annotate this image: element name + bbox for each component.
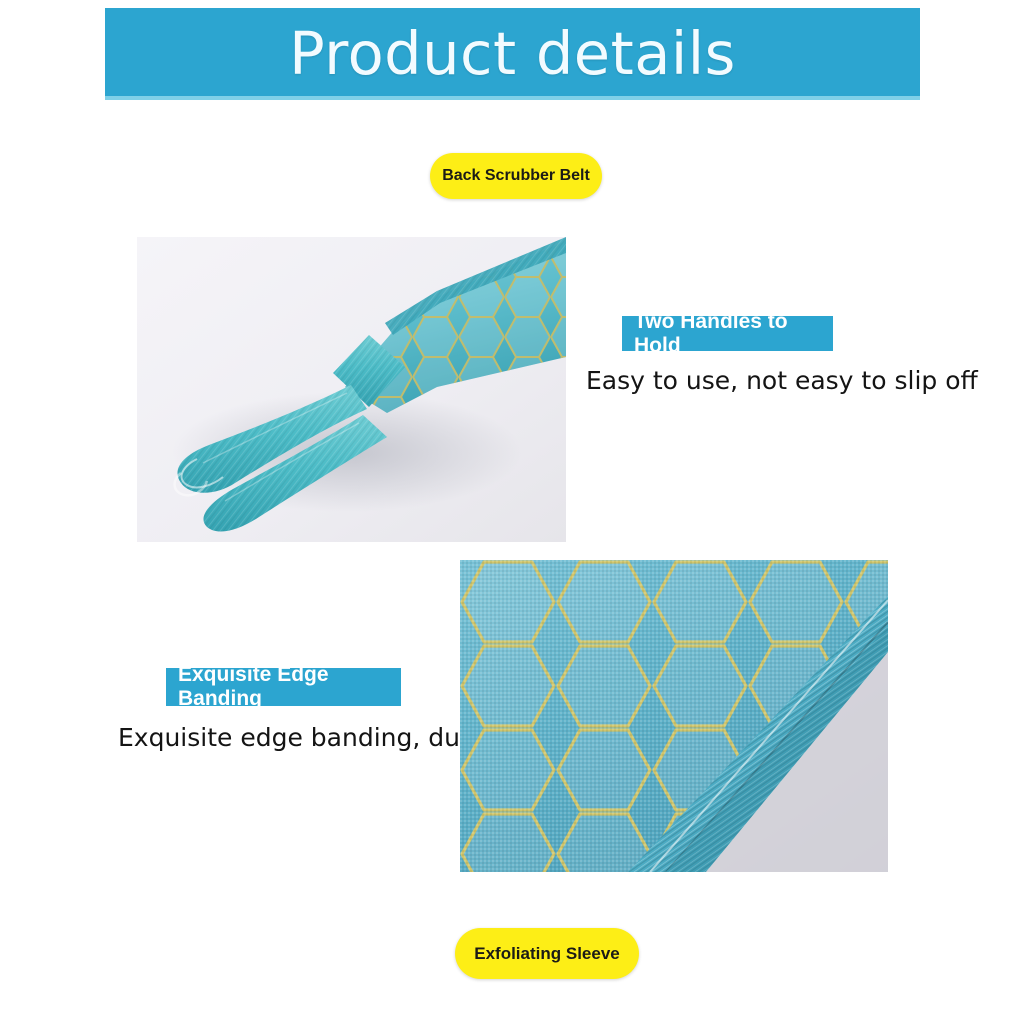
edge-banding-closeup-photo bbox=[460, 560, 888, 872]
feature-label-two-handles: Two Handles to Hold bbox=[622, 316, 833, 351]
feature-description-two-handles: Easy to use, not easy to slip off bbox=[586, 366, 978, 395]
handles-photo-illustration bbox=[137, 237, 566, 542]
badge-exfoliating-sleeve: Exfoliating Sleeve bbox=[455, 928, 639, 979]
badge-back-scrubber-belt: Back Scrubber Belt bbox=[430, 153, 602, 199]
header-underline bbox=[105, 96, 920, 100]
page-title: Product details bbox=[289, 24, 736, 83]
feature-label-edge-banding: Exquisite Edge Banding bbox=[166, 668, 401, 706]
product-details-page: Product details Back Scrubber Belt bbox=[0, 0, 1024, 1024]
header-banner: Product details bbox=[105, 8, 920, 98]
back-scrubber-handles-photo bbox=[137, 237, 566, 542]
fabric-closeup-illustration bbox=[460, 560, 888, 872]
